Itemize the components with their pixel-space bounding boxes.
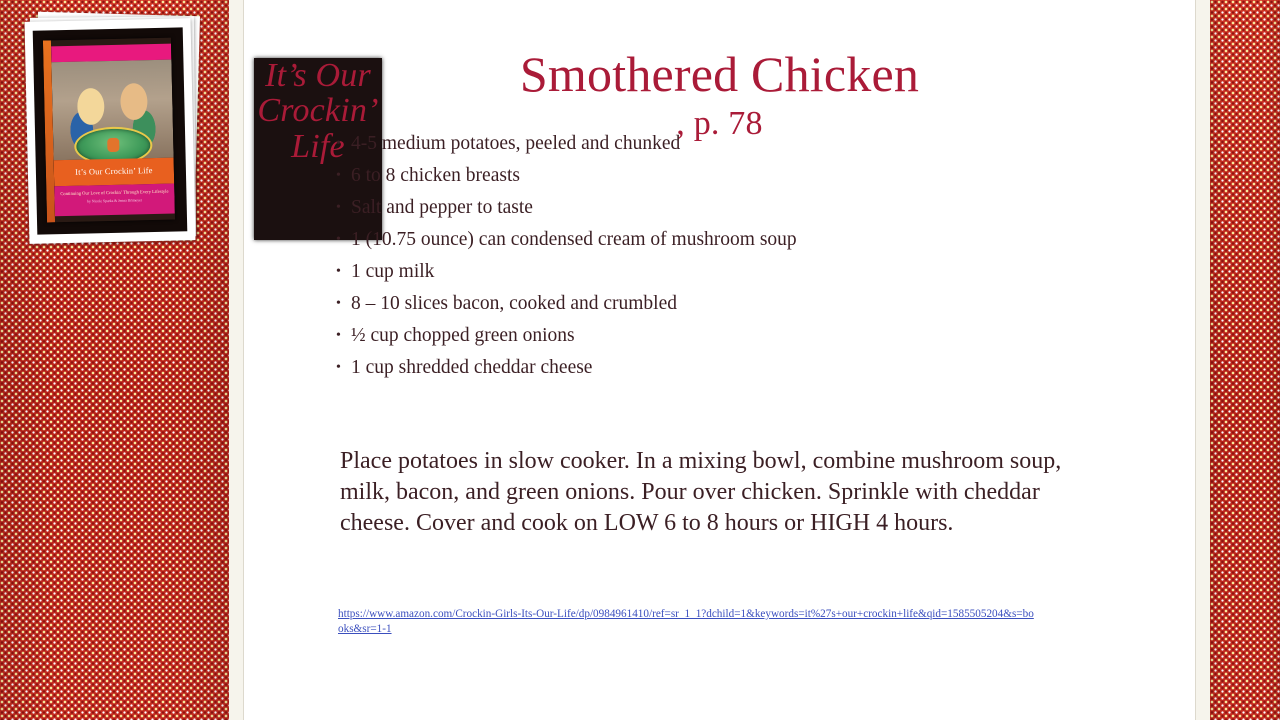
ingredients-list: 4-5 medium potatoes, peeled and chunked … [336,128,1136,384]
right-gutter [1196,0,1210,720]
right-hairline-divider [1195,0,1196,720]
list-item: ½ cup chopped green onions [336,320,1136,352]
book-front-face: It’s Our Crockin’ Life Continuing Our Lo… [51,38,175,223]
source-url-link[interactable]: https://www.amazon.com/Crockin-Girls-Its… [338,607,1038,637]
list-item: 8 – 10 slices bacon, cooked and crumbled [336,288,1136,320]
cookbook-photo: It’s Our Crockin’ Life Continuing Our Lo… [27,14,199,242]
cover-title-text: It’s Our Crockin’ Life [54,158,175,187]
list-item: 1 (10.75 ounce) can condensed cream of m… [336,224,1136,256]
left-gutter [229,0,243,720]
slide-content-canvas: Smothered Chicken It’s Our Crockin’ Life… [244,0,1195,720]
book-cover: It’s Our Crockin’ Life Continuing Our Lo… [43,38,175,223]
directions-paragraph: Place potatoes in slow cooker. In a mixi… [340,446,1115,539]
list-item: 6 to 8 chicken breasts [336,160,1136,192]
right-decorative-band [1210,0,1280,720]
cover-title-band: It’s Our Crockin’ Life [54,158,175,187]
slide-root: It’s Our Crockin’ Life Continuing Our Lo… [0,0,1280,720]
list-item: 1 cup milk [336,256,1136,288]
recipe-title: Smothered Chicken [244,48,1195,100]
cover-subtitle-band: Continuing Our Love of Crockin’ Through … [54,184,175,217]
photo-frame-front: It’s Our Crockin’ Life Continuing Our Lo… [25,18,196,244]
photo-image-area: It’s Our Crockin’ Life Continuing Our Lo… [33,27,188,234]
list-item: Salt and pepper to taste [336,192,1136,224]
list-item: 4-5 medium potatoes, peeled and chunked [336,128,1136,160]
list-item: 1 cup shredded cheddar cheese [336,352,1136,384]
